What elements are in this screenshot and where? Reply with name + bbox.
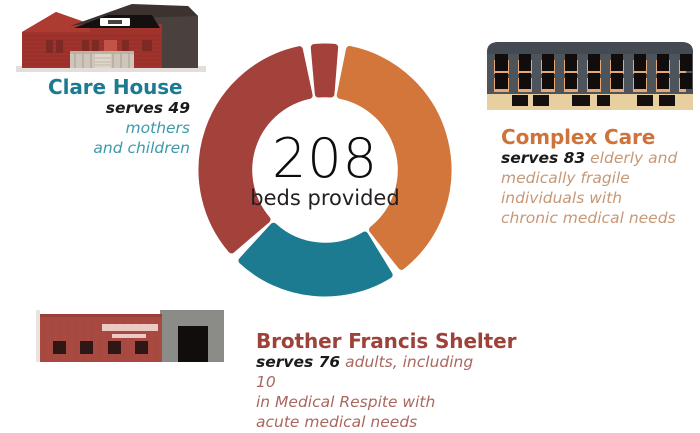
donut-slice-brother-francis[interactable] — [202, 50, 309, 250]
callout-brother-francis: Brother Francis Shelter serves 76 adults… — [256, 330, 496, 433]
clare-house-building-icon — [12, 2, 212, 74]
callout-complex-care: Complex Care serves 83 elderly and medic… — [501, 126, 697, 229]
clare-house-detail-2: and children — [93, 139, 190, 157]
complex-care-serves: serves 83 — [501, 149, 585, 167]
brother-francis-title: Brother Francis Shelter — [256, 330, 496, 352]
donut-slice-clare-house[interactable] — [242, 226, 389, 293]
clare-house-description: serves 49 mothers and children — [48, 99, 190, 158]
complex-care-detail-2: medically fragile — [501, 169, 630, 187]
infographic-canvas: Clare House serves 49 mothers and childr… — [0, 0, 700, 416]
complex-care-description: serves 83 elderly and medically fragile … — [501, 149, 697, 228]
callout-clare-house: Clare House serves 49 mothers and childr… — [48, 76, 190, 159]
brother-francis-detail-2: in Medical Respite with — [256, 393, 435, 411]
brother-francis-serves: serves 76 — [256, 353, 340, 371]
complex-care-detail-4: chronic medical needs — [501, 209, 676, 227]
clare-house-title: Clare House — [48, 76, 190, 98]
donut-slice-complex-care[interactable] — [340, 49, 448, 266]
donut-slice-medical-respite[interactable] — [314, 47, 334, 94]
brother-francis-description: serves 76 adults, including 10 in Medica… — [256, 353, 496, 432]
donut-chart: 208 beds provided — [200, 45, 450, 295]
brother-francis-building-icon — [36, 296, 224, 362]
complex-care-building-icon — [487, 38, 693, 112]
complex-care-title: Complex Care — [501, 126, 697, 148]
clare-house-detail-1: mothers — [126, 119, 190, 137]
clare-house-serves: serves 49 — [106, 99, 190, 117]
complex-care-detail-1: elderly and — [590, 149, 677, 167]
complex-care-detail-3: individuals with — [501, 189, 622, 207]
